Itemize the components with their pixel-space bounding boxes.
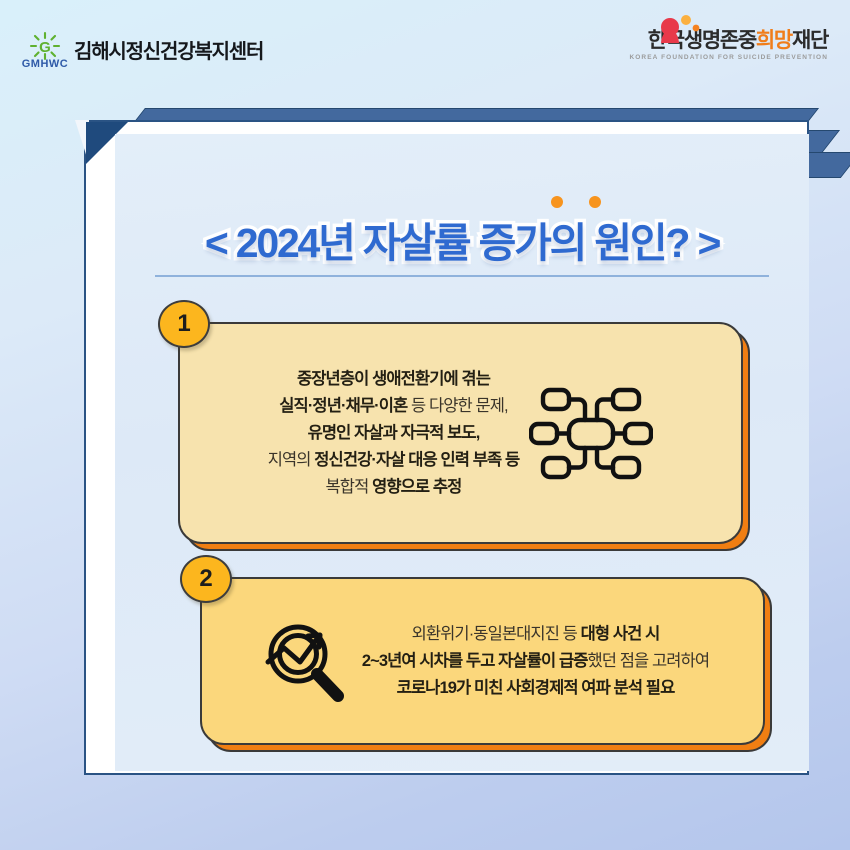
- page-header: G GMHWC 김해시정신건강복지센터 한국생명존중희망재단 KOREA FOU…: [0, 0, 850, 100]
- card-1-line-5: 복합적 영향으로 추정: [268, 478, 520, 496]
- text-segment: 중장년층이 생애전환기에 겪는: [297, 370, 490, 388]
- text-segment: 지역의: [268, 451, 315, 469]
- card-1-line-3: 유명인 자살과 자극적 보도,: [268, 424, 520, 442]
- title-dot-icon: [551, 196, 563, 208]
- card-1-line-2: 실직·정년·채무·이혼 등 다양한 문제,: [268, 397, 520, 415]
- page-title: < 2024년 자살률 증가의 원인? >: [205, 209, 719, 269]
- orange-person-mark-icon: [650, 14, 702, 44]
- text-segment: 영향으로 추정: [372, 478, 461, 496]
- card-2-line-3: 코로나19가 미친 사회경제적 여파 분석 필요: [362, 679, 709, 697]
- text-segment: 대형 사건 시: [581, 625, 660, 643]
- card-2-line-1: 외환위기·동일본대지진 등 대형 사건 시: [362, 625, 709, 643]
- title-dots: [541, 195, 611, 213]
- card-2-line-2: 2~3년여 시차를 두고 자살률이 급증했던 점을 고려하여: [362, 652, 709, 670]
- title-zone: < 2024년 자살률 증가의 원인? >: [115, 209, 809, 269]
- title-divider: [155, 275, 769, 277]
- text-segment: 복합적: [326, 478, 373, 496]
- text-segment: 2~3년여 시차를 두고 자살률이 급증: [362, 652, 588, 670]
- text-segment: 코로나19가 미친 사회경제적 여파 분석 필요: [397, 679, 675, 697]
- kfsp-subtitle: KOREA FOUNDATION FOR SUICIDE PREVENTION: [629, 54, 828, 61]
- card-2-content: 외환위기·동일본대지진 등 대형 사건 시 2~3년여 시차를 두고 자살률이 …: [242, 618, 723, 704]
- network-diagram-icon: [529, 384, 653, 482]
- kfsp-name-part2: 희망: [756, 29, 792, 52]
- text-segment: 했던 점을 고려하여: [588, 652, 710, 670]
- gmhwc-acronym: GMHWC: [22, 58, 69, 70]
- card-2-lines: 외환위기·동일본대지진 등 대형 사건 시 2~3년여 시차를 두고 자살률이 …: [362, 625, 709, 697]
- card-2-badge: 2: [180, 555, 232, 603]
- text-segment: 유명인 자살과 자극적 보도,: [308, 424, 480, 442]
- poster-stack: < 2024년 자살률 증가의 원인? > 중장년층이 생애전환기에 겪는 실직…: [55, 108, 813, 776]
- card-2-body: 외환위기·동일본대지진 등 대형 사건 시 2~3년여 시차를 두고 자살률이 …: [200, 577, 765, 745]
- text-segment: 외환위기·동일본대지진 등: [412, 625, 581, 643]
- kfsp-logo: 한국생명존중희망재단 KOREA FOUNDATION FOR SUICIDE …: [629, 30, 828, 61]
- green-sun-icon: G GMHWC: [22, 30, 68, 76]
- card-1-body: 중장년층이 생애전환기에 겪는 실직·정년·채무·이혼 등 다양한 문제, 유명…: [178, 322, 743, 544]
- kfsp-name-part3: 재단: [792, 29, 828, 52]
- svg-text:G: G: [39, 39, 51, 56]
- reason-card-2: 외환위기·동일본대지진 등 대형 사건 시 2~3년여 시차를 두고 자살률이 …: [200, 577, 765, 745]
- poster-page: < 2024년 자살률 증가의 원인? > 중장년층이 생애전환기에 겪는 실직…: [84, 120, 809, 775]
- text-segment: 등 다양한 문제,: [407, 397, 507, 415]
- card-1-badge: 1: [158, 300, 210, 348]
- card-1-lines: 중장년층이 생애전환기에 겪는 실직·정년·채무·이혼 등 다양한 문제, 유명…: [268, 370, 520, 497]
- card-1-line-4: 지역의 정신건강·자살 대응 인력 부족 등: [268, 451, 520, 469]
- title-dot-icon: [589, 196, 601, 208]
- card-1-content: 중장년층이 생애전환기에 겪는 실직·정년·채무·이혼 등 다양한 문제, 유명…: [254, 370, 668, 497]
- gmhwc-logo: G GMHWC 김해시정신건강복지센터: [22, 30, 263, 76]
- text-segment: 실직·정년·채무·이혼: [279, 397, 407, 415]
- text-segment: 정신건강·자살 대응 인력 부족 등: [314, 451, 519, 469]
- reason-card-1: 중장년층이 생애전환기에 겪는 실직·정년·채무·이혼 등 다양한 문제, 유명…: [178, 322, 743, 544]
- center-name: 김해시정신건강복지센터: [74, 35, 263, 64]
- poster-inner-panel: < 2024년 자살률 증가의 원인? > 중장년층이 생애전환기에 겪는 실직…: [115, 134, 809, 771]
- card-1-line-1: 중장년층이 생애전환기에 겪는: [268, 370, 520, 388]
- magnifier-trend-icon: [256, 618, 352, 704]
